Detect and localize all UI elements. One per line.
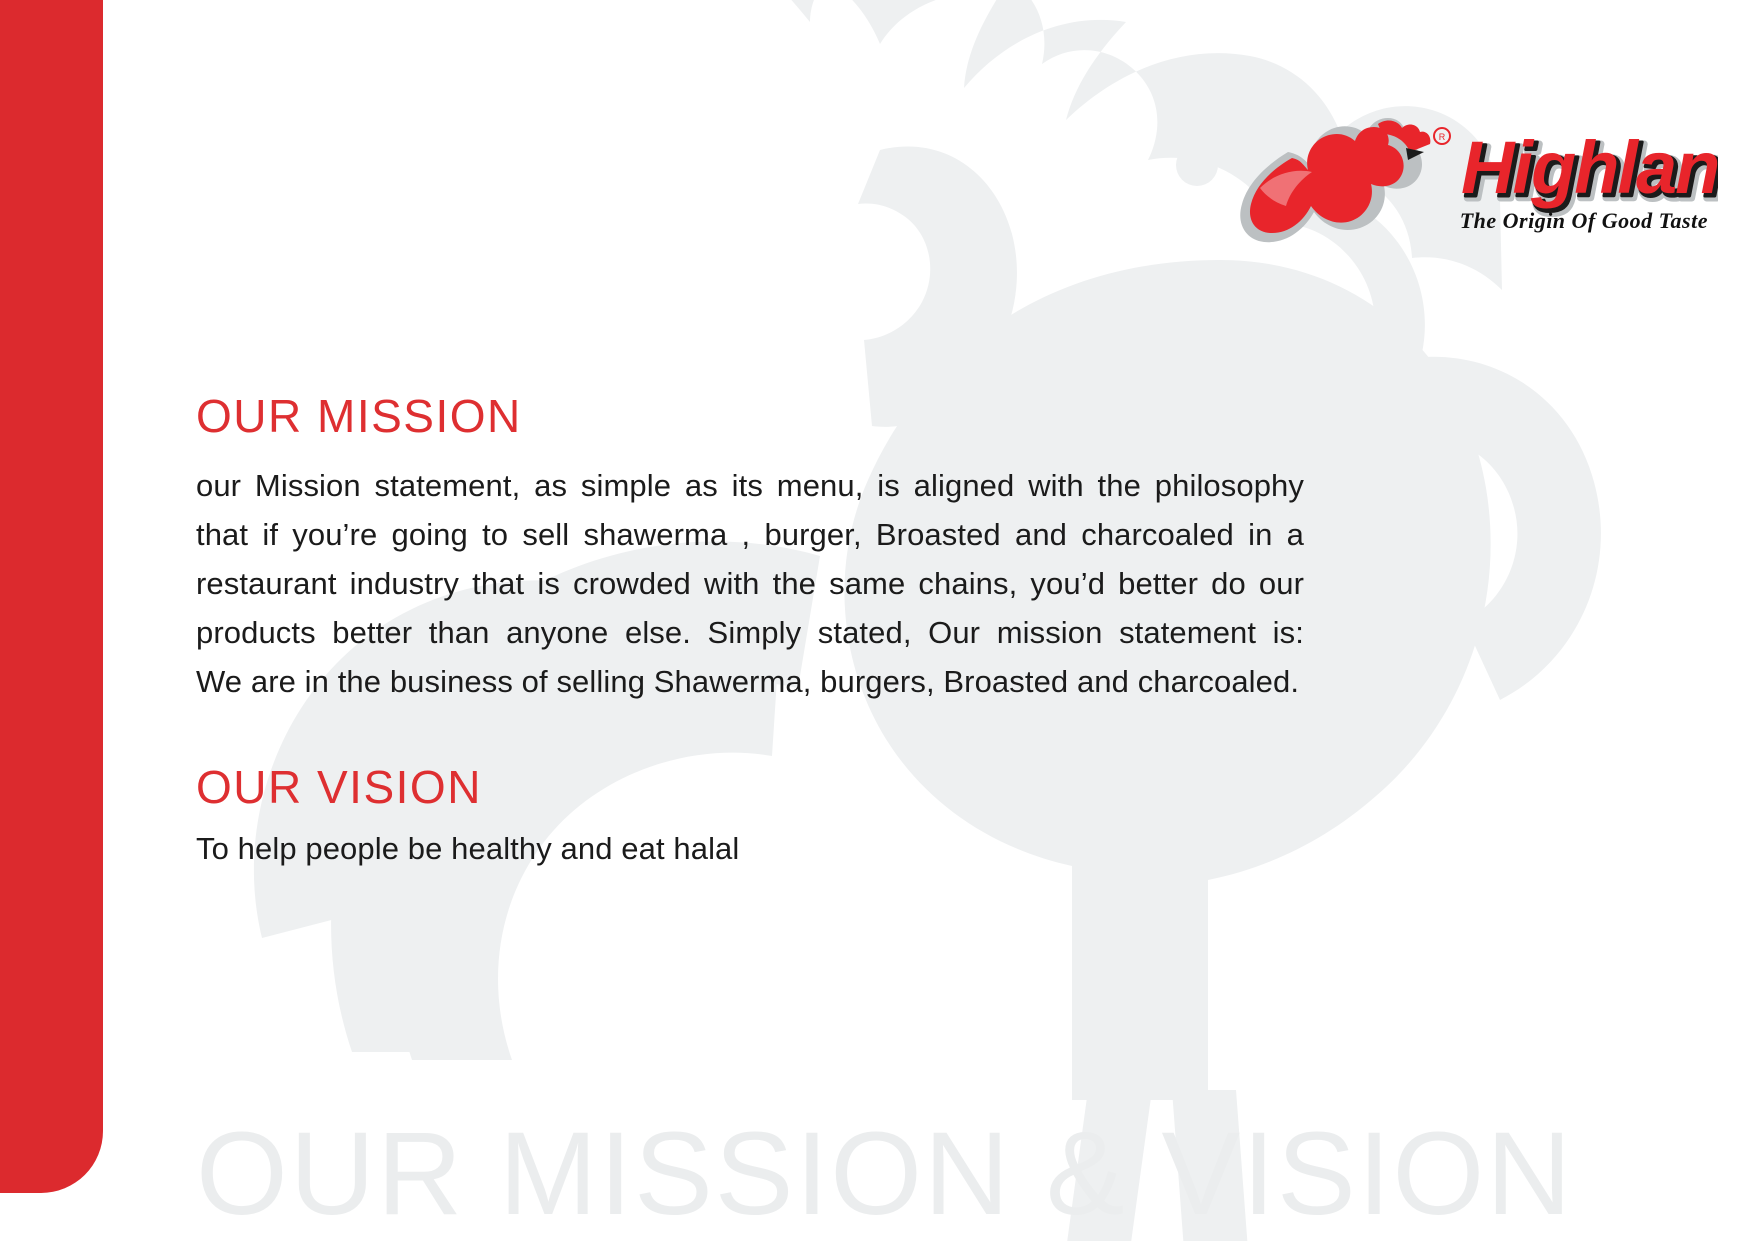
mission-paragraph: our Mission statement, as simple as its … [196, 462, 1446, 707]
vision-heading: OUR VISION [196, 763, 1446, 811]
mission-line-3: restaurant industry that is crowded with… [196, 560, 1304, 609]
logo-tagline: The Origin Of Good Taste [1460, 208, 1708, 233]
slide-root: OUR MISSION & VISION R [0, 0, 1754, 1241]
left-accent-bar [0, 0, 103, 1193]
mission-line-1: our Mission statement, as simple as its … [196, 462, 1304, 511]
slide-content: OUR MISSION our Mission statement, as si… [196, 392, 1446, 871]
mission-heading: OUR MISSION [196, 392, 1446, 440]
mission-section: OUR MISSION our Mission statement, as si… [196, 392, 1446, 707]
brand-logo: R Highlander Highlander Highlander The O… [1230, 118, 1718, 246]
logo-rooster-icon [1240, 118, 1430, 242]
logo-wordmark: Highlander Highlander Highlander [1461, 126, 1718, 214]
svg-text:Highlander: Highlander [1461, 126, 1718, 209]
svg-text:R: R [1439, 132, 1446, 142]
mission-line-4: products better than anyone else. Simply… [196, 609, 1304, 658]
footer-watermark-text: OUR MISSION & VISION [196, 1115, 1574, 1233]
mission-line-2: that if you’re going to sell shawerma , … [196, 511, 1304, 560]
mission-line-5: We are in the business of selling Shawer… [196, 658, 1446, 707]
vision-paragraph: To help people be healthy and eat halal [196, 827, 1446, 870]
logo-trademark-icon: R [1434, 128, 1450, 144]
vision-section: OUR VISION To help people be healthy and… [196, 763, 1446, 871]
logo-decorative-dot [1176, 144, 1218, 186]
